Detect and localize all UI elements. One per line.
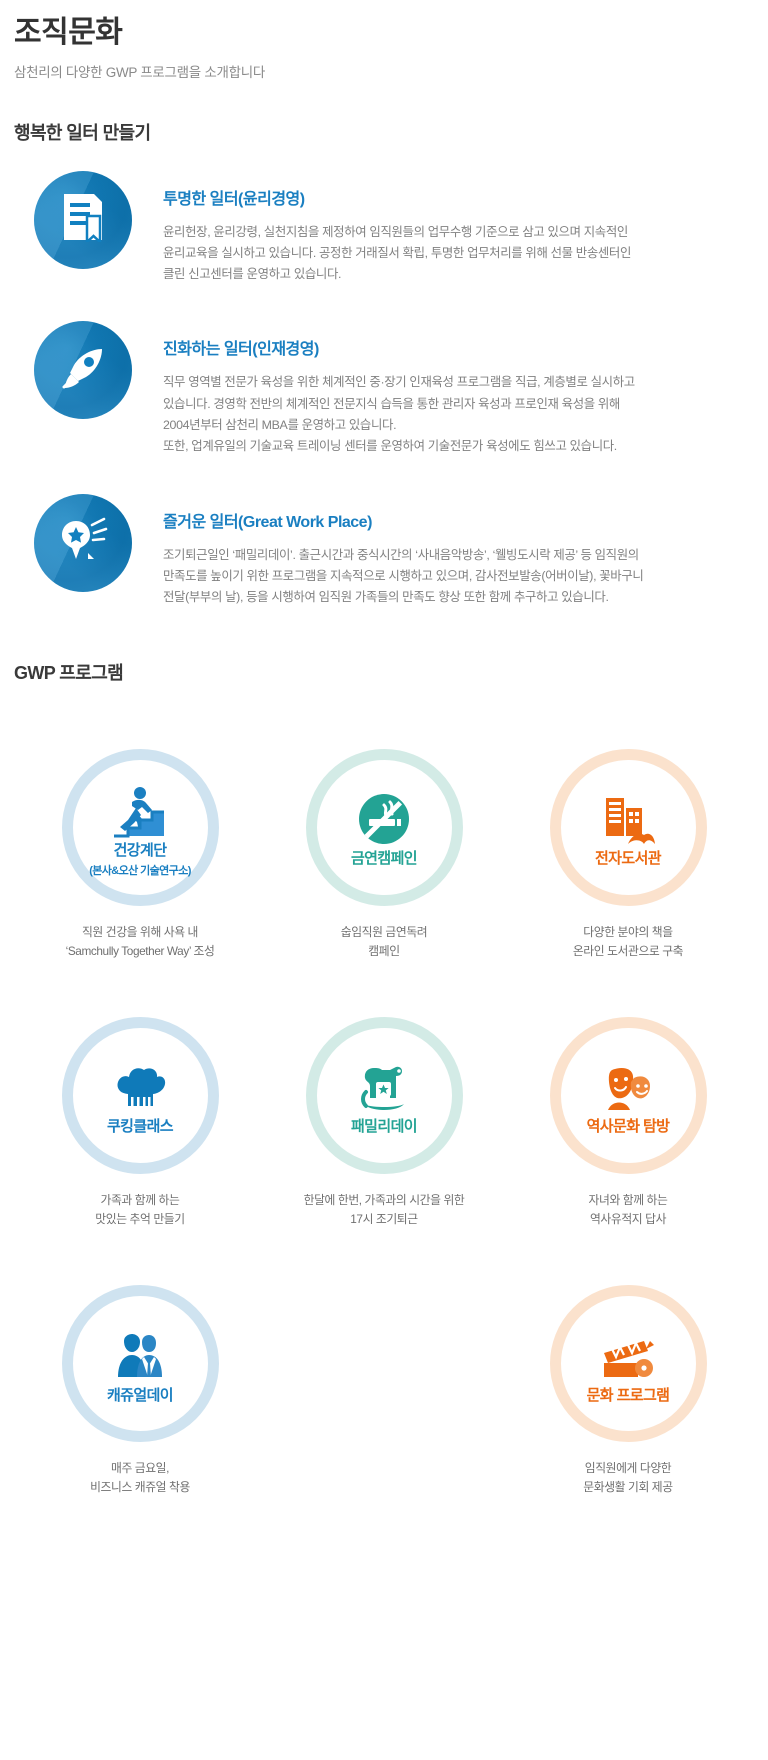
happy-text-line: 있습니다. 경영학 전반의 체계적인 전문지식 습득을 통한 관리자 육성과 프… (163, 394, 754, 415)
gwp-program-label: 문화 프로그램 (587, 1387, 670, 1404)
gwp-program-card-casual-day[interactable]: 캐쥬얼데이 매주 금요일, 비즈니스 캐쥬얼 착용 (18, 1285, 262, 1497)
gwp-program-label: 건강계단 (114, 842, 167, 859)
gwp-program-description: 다양한 분야의 책을 온라인 도서관으로 구축 (573, 923, 683, 961)
gwp-program-description: 한달에 한번, 가족과의 시간을 위한 17시 조기퇴근 (304, 1191, 465, 1229)
rocket-icon (58, 343, 108, 398)
clapperboard-icon (600, 1321, 656, 1383)
happy-text-line: 2004년부터 삼천리 MBA를 운영하고 있습니다. (163, 415, 754, 436)
gwp-program-card-family-day[interactable]: 패밀리데이 한달에 한번, 가족과의 시간을 위한 17시 조기퇴근 (262, 1017, 506, 1229)
happy-workplace-section-heading: 행복한 일터 만들기 (0, 119, 768, 145)
happy-workplace-text: 직무 영역별 전문가 육성을 위한 체계적인 중·장기 인재육성 프로그램을 직… (163, 372, 754, 457)
gwp-program-circle[interactable]: 캐쥬얼데이 (62, 1285, 219, 1442)
happy-workplace-body: 즐거운 일터(Great Work Place) 조기퇴근일인 ‘패밀리데이’.… (132, 494, 768, 609)
gwp-program-circle[interactable]: 전자도서관 (550, 749, 707, 906)
happy-text-line: 전달(부부의 날), 등을 시행하여 임직원 가족들의 만족도 향상 또한 함께… (163, 587, 754, 608)
page-header: 조직문화 삼천리의 다양한 GWP 프로그램을 소개합니다 (0, 0, 768, 81)
gwp-program-sublabel: (본사&오산 기술연구소) (89, 862, 191, 878)
stairs-runner-icon (112, 776, 168, 838)
happy-workplace-item: 즐거운 일터(Great Work Place) 조기퇴근일인 ‘패밀리데이’.… (0, 494, 768, 609)
happy-workplace-title: 투명한 일터(윤리경영) (163, 185, 754, 209)
gwp-program-description: 숩임직원 금연독려 캠페인 (341, 923, 428, 961)
gwp-program-circle[interactable]: 쿠킹클래스 (62, 1017, 219, 1174)
gwp-program-label: 역사문화 탐방 (587, 1118, 670, 1135)
happy-workplace-list: 투명한 일터(윤리경영) 윤리헌장, 윤리강령, 실천지침을 제정하여 임직원들… (0, 171, 768, 609)
happy-workplace-item: 투명한 일터(윤리경영) 윤리헌장, 윤리강령, 실천지침을 제정하여 임직원들… (0, 171, 768, 286)
two-people-icon (112, 1321, 168, 1383)
no-smoking-icon (357, 784, 411, 846)
gwp-program-description: 임직원에게 다양한 문화생활 기회 제공 (583, 1459, 672, 1497)
gwp-program-label: 금연캠페인 (351, 850, 417, 867)
chef-hat-icon (112, 1052, 168, 1114)
document-bookmark-icon (60, 192, 106, 247)
page-title: 조직문화 (14, 14, 768, 52)
gwp-program-description: 가족과 함께 하는 맛있는 추억 만들기 (95, 1191, 184, 1229)
gwp-program-label: 패밀리데이 (351, 1118, 417, 1135)
happy-text-line: 조기퇴근일인 ‘패밀리데이’. 출근시간과 중식시간의 ‘사내음악방송’, ‘웰… (163, 545, 754, 566)
happy-workplace-text: 윤리헌장, 윤리강령, 실천지침을 제정하여 임직원들의 업무수행 기준으로 삼… (163, 222, 754, 286)
happy-text-line: 윤리교육을 실시하고 있습니다. 공정한 거래질서 확립, 투명한 업무처리를 … (163, 243, 754, 264)
happy-workplace-body: 투명한 일터(윤리경영) 윤리헌장, 윤리강령, 실천지침을 제정하여 임직원들… (132, 171, 768, 286)
gwp-program-circle[interactable]: 건강계단 (본사&오산 기술연구소) (62, 749, 219, 906)
gwp-badge (34, 494, 132, 592)
gwp-program-description: 자녀와 함께 하는 역사유적지 답사 (589, 1191, 668, 1229)
page-subtitle: 삼천리의 다양한 GWP 프로그램을 소개합니다 (14, 61, 768, 81)
gwp-program-card-no-smoking[interactable]: 금연캠페인 숩임직원 금연독려 캠페인 (262, 749, 506, 961)
star-shooting-icon (58, 515, 108, 570)
happy-workplace-text: 조기퇴근일인 ‘패밀리데이’. 출근시간과 중식시간의 ‘사내음악방송’, ‘웰… (163, 545, 754, 609)
gwp-program-card-culture-program[interactable]: 문화 프로그램 임직원에게 다양한 문화생활 기회 제공 (506, 1285, 750, 1497)
gwp-program-card-cooking-class[interactable]: 쿠킹클래스 가족과 함께 하는 맛있는 추억 만들기 (18, 1017, 262, 1229)
gwp-program-label: 캐쥬얼데이 (107, 1387, 173, 1404)
ethics-badge (34, 171, 132, 269)
happy-text-line: 또한, 업계유일의 기술교육 트레이닝 센터를 운영하여 기술전문가 육성에도 … (163, 436, 754, 457)
gwp-program-section-heading: GWP 프로그램 (0, 659, 768, 685)
gwp-program-circle[interactable]: 역사문화 탐방 (550, 1017, 707, 1174)
happy-text-line: 만족도를 높이기 위한 프로그램을 지속적으로 시행하고 있으며, 감사전보발송… (163, 566, 754, 587)
gwp-program-label: 쿠킹클래스 (107, 1118, 173, 1135)
gwp-program-description: 매주 금요일, 비즈니스 캐쥬얼 착용 (90, 1459, 190, 1497)
organization-culture-page: 조직문화 삼천리의 다양한 GWP 프로그램을 소개합니다 행복한 일터 만들기 (0, 0, 768, 1497)
gwp-program-card-health-stairs[interactable]: 건강계단 (본사&오산 기술연구소) 직원 건강을 위해 사욕 내 ‘Samch… (18, 749, 262, 961)
gwp-program-circle[interactable]: 금연캠페인 (306, 749, 463, 906)
gwp-program-card-history-culture-tour[interactable]: 역사문화 탐방 자녀와 함께 하는 역사유적지 답사 (506, 1017, 750, 1229)
gwp-program-label: 전자도서관 (595, 850, 661, 867)
happy-workplace-body: 진화하는 일터(인재경영) 직무 영역별 전문가 육성을 위한 체계적인 중·장… (132, 321, 768, 457)
talent-badge (34, 321, 132, 419)
gwp-program-description: 직원 건강을 위해 사욕 내 ‘Samchully Together Way’ … (66, 923, 215, 961)
library-book-icon (600, 784, 656, 846)
rocking-horse-icon (356, 1052, 412, 1114)
happy-text-line: 윤리헌장, 윤리강령, 실천지침을 제정하여 임직원들의 업무수행 기준으로 삼… (163, 222, 754, 243)
happy-workplace-title: 진화하는 일터(인재경영) (163, 335, 754, 359)
happy-text-line: 클린 신고센터를 운영하고 있습니다. (163, 264, 754, 285)
theater-masks-icon (600, 1052, 656, 1114)
happy-workplace-item: 진화하는 일터(인재경영) 직무 영역별 전문가 육성을 위한 체계적인 중·장… (0, 321, 768, 457)
gwp-program-card-e-library[interactable]: 전자도서관 다양한 분야의 책을 온라인 도서관으로 구축 (506, 749, 750, 961)
happy-workplace-title: 즐거운 일터(Great Work Place) (163, 508, 754, 532)
gwp-program-grid: 건강계단 (본사&오산 기술연구소) 직원 건강을 위해 사욕 내 ‘Samch… (0, 749, 768, 1498)
gwp-program-circle[interactable]: 문화 프로그램 (550, 1285, 707, 1442)
happy-text-line: 직무 영역별 전문가 육성을 위한 체계적인 중·장기 인재육성 프로그램을 직… (163, 372, 754, 393)
gwp-program-circle[interactable]: 패밀리데이 (306, 1017, 463, 1174)
